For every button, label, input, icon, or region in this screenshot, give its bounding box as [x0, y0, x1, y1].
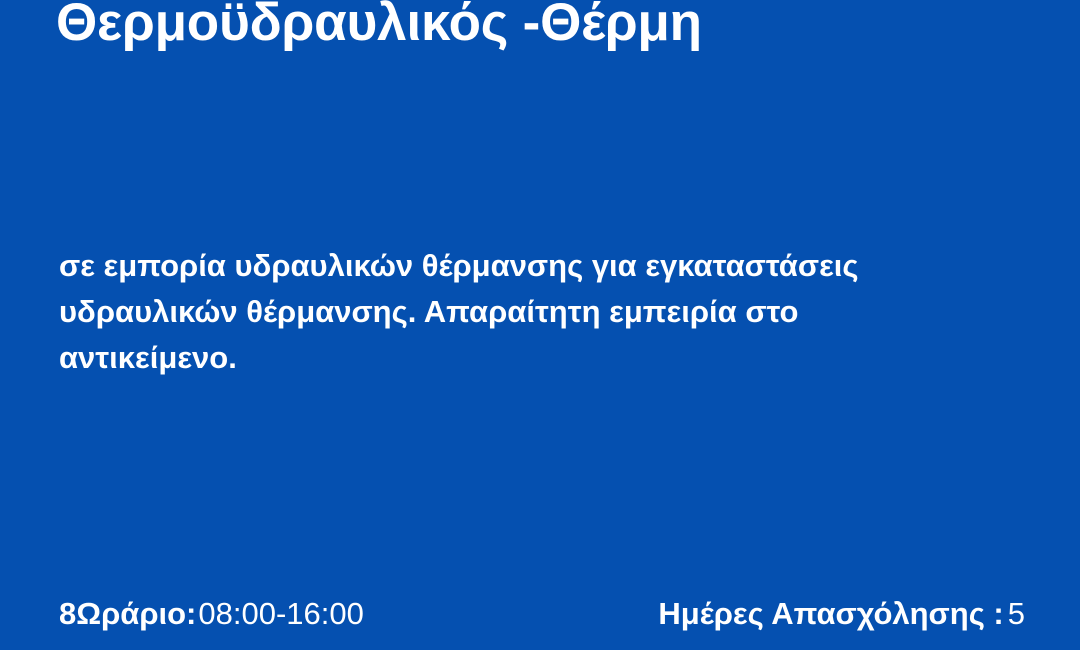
work-hours-label: 8Ωράριο: [59, 596, 196, 631]
page-title: Θερμοϋδραυλικός -Θέρμη [56, 0, 1036, 55]
job-meta-row: 8Ωράριο:08:00-16:00 Ημέρες Απασχόλησης :… [0, 592, 1080, 650]
work-days-value: 5 [1008, 596, 1025, 631]
work-hours-value: 08:00-16:00 [198, 596, 363, 631]
job-posting-card: Θερμοϋδραυλικός -Θέρμη σε εμπορία υδραυλ… [0, 0, 1080, 650]
work-days-label: Ημέρες Απασχόλησης : [658, 596, 1003, 631]
description-line: υδραυλικών θέρμανσης. Απαραίτητη εμπειρί… [59, 289, 1005, 335]
work-days-item: Ημέρες Απασχόλησης :5 [658, 592, 1025, 636]
job-description: σε εμπορία υδραυλικών θέρμανσης για εγκα… [59, 243, 1005, 381]
work-hours-item: 8Ωράριο:08:00-16:00 [59, 592, 364, 636]
description-line: σε εμπορία υδραυλικών θέρμανσης για εγκα… [59, 243, 1005, 289]
description-line: αντικείμενο. [59, 335, 1005, 381]
